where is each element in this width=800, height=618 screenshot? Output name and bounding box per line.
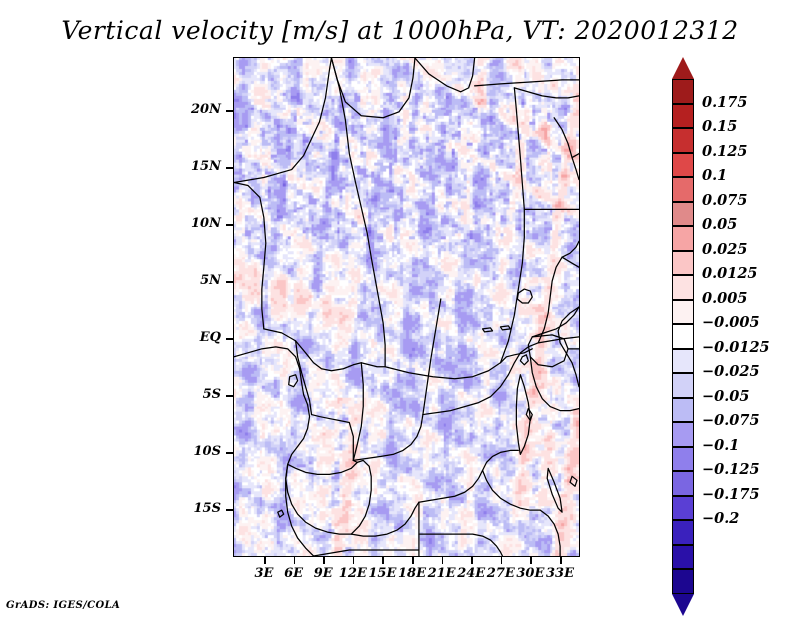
colorbar-band	[672, 324, 694, 349]
x-axis-tick	[382, 557, 384, 564]
footer-credit: GrADS: IGES/COLA	[6, 600, 120, 611]
y-axis-tick	[226, 395, 233, 397]
x-axis-tick	[412, 557, 414, 564]
colorbar-band	[672, 104, 694, 129]
colorbar-band	[672, 226, 694, 251]
colorbar-band	[672, 520, 694, 545]
x-axis-label: 33E	[540, 566, 580, 581]
y-axis-label: 10S	[177, 444, 221, 459]
colorbar-arrow-top	[672, 57, 694, 79]
colorbar-band	[672, 349, 694, 374]
y-axis-tick	[226, 281, 233, 283]
colorbar-band	[672, 569, 694, 594]
colorbar-tick-label: 0.1	[702, 167, 727, 184]
y-axis-label: 10N	[177, 216, 221, 231]
x-axis-tick	[471, 557, 473, 564]
y-axis-label: 15N	[177, 159, 221, 174]
colorbar-tick-label: −0.125	[702, 461, 760, 478]
y-axis-tick	[226, 452, 233, 454]
x-axis-tick	[530, 557, 532, 564]
colorbar-band	[672, 422, 694, 447]
y-axis-tick	[226, 338, 233, 340]
colorbar-tick-label: 0.0125	[702, 265, 758, 282]
colorbar-tick-label: 0.05	[702, 216, 737, 233]
y-axis-label: 5N	[177, 273, 221, 288]
colorbar-band	[672, 447, 694, 472]
colorbar-band	[672, 300, 694, 325]
colorbar-band	[672, 79, 694, 104]
map-plot-area	[233, 57, 580, 557]
colorbar-band	[672, 545, 694, 570]
colorbar-tick-label: −0.175	[702, 486, 760, 503]
colorbar-tick-label: −0.025	[702, 363, 760, 380]
y-axis-tick	[226, 167, 233, 169]
x-axis-tick	[501, 557, 503, 564]
colorbar-tick-label: −0.075	[702, 412, 760, 429]
x-axis-tick	[560, 557, 562, 564]
colorbar-band	[672, 177, 694, 202]
colorbar-arrow-bottom	[672, 594, 694, 616]
colorbar-tick-label: 0.075	[702, 192, 747, 209]
country-borders-overlay	[234, 58, 579, 556]
y-axis-tick	[226, 224, 233, 226]
y-axis-tick	[226, 509, 233, 511]
colorbar-tick-label: 0.125	[702, 143, 747, 160]
colorbar-band	[672, 275, 694, 300]
colorbar-band	[672, 471, 694, 496]
x-axis-tick	[323, 557, 325, 564]
x-axis-tick	[294, 557, 296, 564]
colorbar-band	[672, 496, 694, 521]
page-title: Vertical velocity [m/s] at 1000hPa, VT: …	[0, 16, 800, 45]
colorbar-tick-label: −0.005	[702, 314, 760, 331]
colorbar-tick-label: −0.0125	[702, 339, 770, 356]
colorbar-tick-label: 0.175	[702, 94, 747, 111]
colorbar-tick-label: −0.05	[702, 388, 749, 405]
y-axis-tick	[226, 110, 233, 112]
y-axis-label: 5S	[177, 387, 221, 402]
colorbar-band	[672, 251, 694, 276]
colorbar-tick-label: 0.15	[702, 118, 737, 135]
colorbar	[672, 57, 694, 551]
colorbar-band	[672, 398, 694, 423]
x-axis-tick	[442, 557, 444, 564]
colorbar-band	[672, 202, 694, 227]
colorbar-tick-label: 0.025	[702, 241, 747, 258]
y-axis-label: 20N	[177, 102, 221, 117]
x-axis-tick	[264, 557, 266, 564]
colorbar-tick-label: −0.2	[702, 510, 739, 527]
colorbar-tick-label: 0.005	[702, 290, 747, 307]
colorbar-tick-label: −0.1	[702, 437, 739, 454]
y-axis-label: 15S	[177, 501, 221, 516]
y-axis-label: EQ	[177, 330, 221, 345]
colorbar-band	[672, 128, 694, 153]
colorbar-band	[672, 373, 694, 398]
colorbar-band	[672, 153, 694, 178]
x-axis-tick	[353, 557, 355, 564]
